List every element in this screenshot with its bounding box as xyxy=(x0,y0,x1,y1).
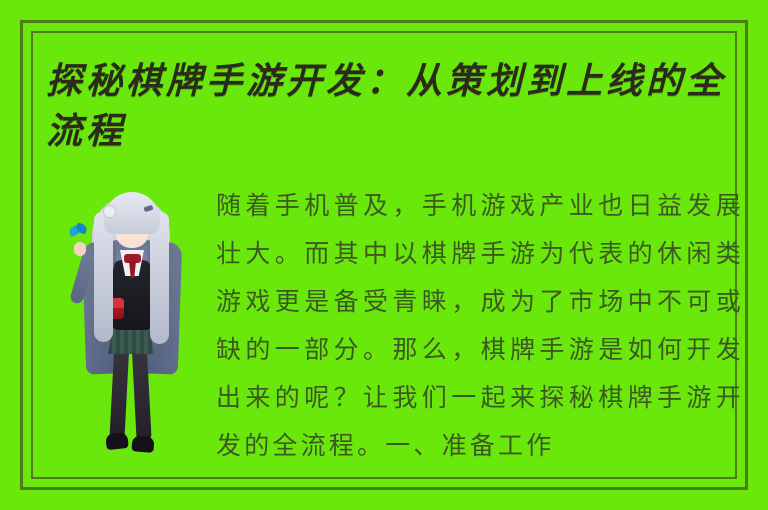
page-title: 探秘棋牌手游开发：从策划到上线的全流程 xyxy=(46,56,736,156)
shoe-left xyxy=(105,432,129,450)
shoe-right xyxy=(131,435,154,453)
hair-ornament-icon xyxy=(104,206,115,217)
article-body-text: 随着手机普及，手机游戏产业也日益发展壮大。而其中以棋牌手游为代表的休闲类游戏更是… xyxy=(216,182,744,470)
anime-girl-illustration xyxy=(62,190,202,475)
hand xyxy=(74,242,86,256)
poster-canvas: 探秘棋牌手游开发：从策划到上线的全流程 随着手机普及，手机游戏产业也日益发展壮大… xyxy=(0,0,768,510)
